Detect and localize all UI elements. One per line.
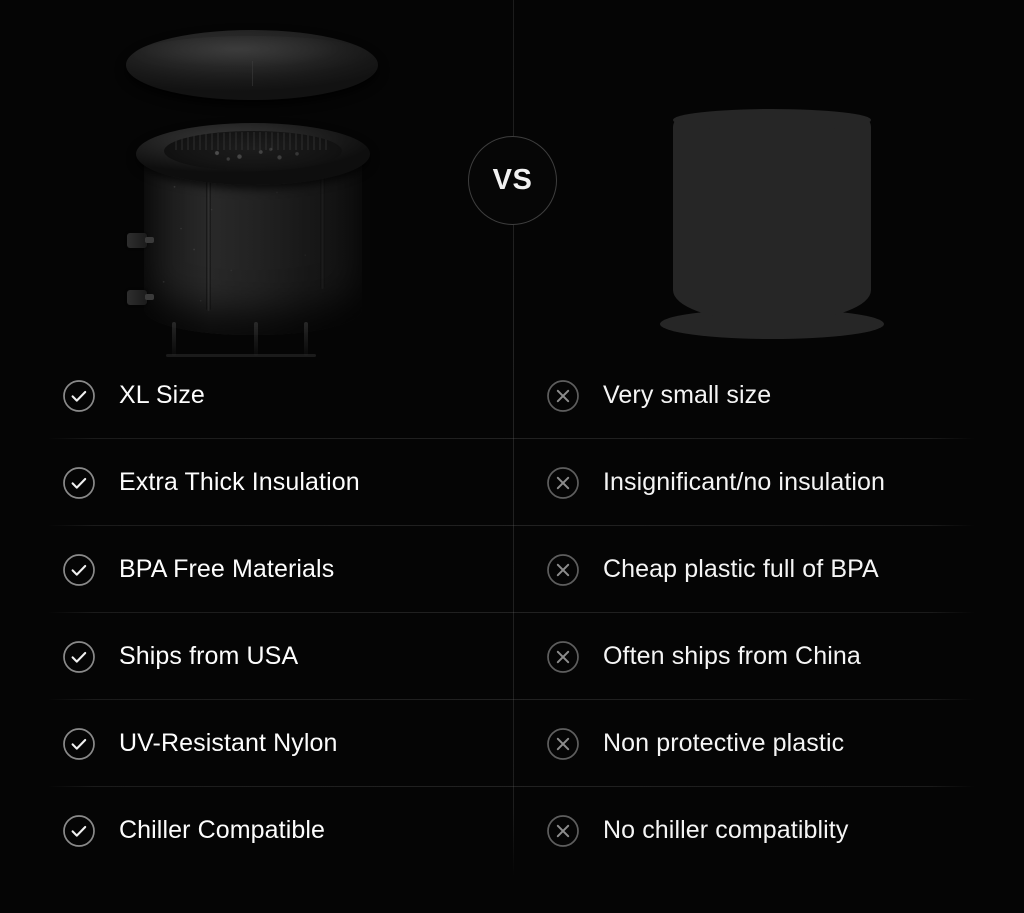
feature-label: XL Size (119, 381, 205, 410)
lid-seam (252, 61, 253, 86)
right-product-image-generic-competitor-tub (660, 115, 884, 335)
right-feature-cell: Non protective plastic (513, 700, 1024, 787)
tub-rib (206, 161, 211, 311)
right-feature-cell: Very small size (513, 352, 1024, 439)
competitor-tub-body (673, 115, 871, 320)
table-row: Chiller Compatible No chiller compatibli… (0, 787, 1024, 874)
feature-label: UV-Resistant Nylon (119, 729, 338, 758)
left-feature-cell: Extra Thick Insulation (0, 439, 513, 526)
feature-label: Non protective plastic (603, 729, 844, 758)
feature-label: Insignificant/no insulation (603, 468, 885, 497)
left-feature-cell: BPA Free Materials (0, 526, 513, 613)
feature-label: No chiller compatiblity (603, 816, 848, 845)
vs-badge: VS (468, 136, 557, 225)
x-circle-icon (546, 727, 580, 761)
right-feature-cell: No chiller compatiblity (513, 787, 1024, 874)
air-valve-icon (127, 290, 147, 305)
right-feature-cell: Cheap plastic full of BPA (513, 526, 1024, 613)
x-circle-icon (546, 379, 580, 413)
ice-water (192, 145, 317, 166)
check-circle-icon (62, 640, 96, 674)
table-row: Extra Thick Insulation Insignificant/no … (0, 439, 1024, 526)
left-product-image-xl-inflatable-ice-bath (118, 20, 388, 350)
check-circle-icon (62, 466, 96, 500)
x-circle-icon (546, 814, 580, 848)
check-circle-icon (62, 814, 96, 848)
x-circle-icon (546, 466, 580, 500)
support-leg (304, 322, 308, 356)
comparison-chart: VS XL Size Very small size (0, 0, 1024, 913)
tub-lid (126, 30, 378, 100)
feature-label: Ships from USA (119, 642, 298, 671)
x-circle-icon (546, 553, 580, 587)
table-row: Ships from USA Often ships from China (0, 613, 1024, 700)
feature-label: Extra Thick Insulation (119, 468, 360, 497)
left-feature-cell: XL Size (0, 352, 513, 439)
x-circle-icon (546, 640, 580, 674)
left-feature-cell: Chiller Compatible (0, 787, 513, 874)
tub-assembly (136, 115, 370, 340)
feature-label: BPA Free Materials (119, 555, 334, 584)
support-leg (172, 322, 176, 356)
check-circle-icon (62, 553, 96, 587)
left-feature-cell: Ships from USA (0, 613, 513, 700)
check-circle-icon (62, 379, 96, 413)
product-hero-area: VS (0, 0, 1024, 360)
feature-comparison-table: XL Size Very small size Extra Thick Insu… (0, 352, 1024, 874)
tub-rib (320, 161, 325, 289)
support-leg (254, 322, 258, 356)
competitor-tub-top (673, 109, 871, 131)
air-valve-icon (127, 233, 147, 248)
right-feature-cell: Often ships from China (513, 613, 1024, 700)
table-row: BPA Free Materials Cheap plastic full of… (0, 526, 1024, 613)
feature-label: Often ships from China (603, 642, 861, 671)
table-row: XL Size Very small size (0, 352, 1024, 439)
left-feature-cell: UV-Resistant Nylon (0, 700, 513, 787)
check-circle-icon (62, 727, 96, 761)
tub-interior (164, 131, 342, 171)
vs-label: VS (493, 164, 533, 197)
feature-label: Very small size (603, 381, 771, 410)
table-row: UV-Resistant Nylon Non protective plasti… (0, 700, 1024, 787)
right-feature-cell: Insignificant/no insulation (513, 439, 1024, 526)
feature-label: Chiller Compatible (119, 816, 325, 845)
feature-label: Cheap plastic full of BPA (603, 555, 879, 584)
